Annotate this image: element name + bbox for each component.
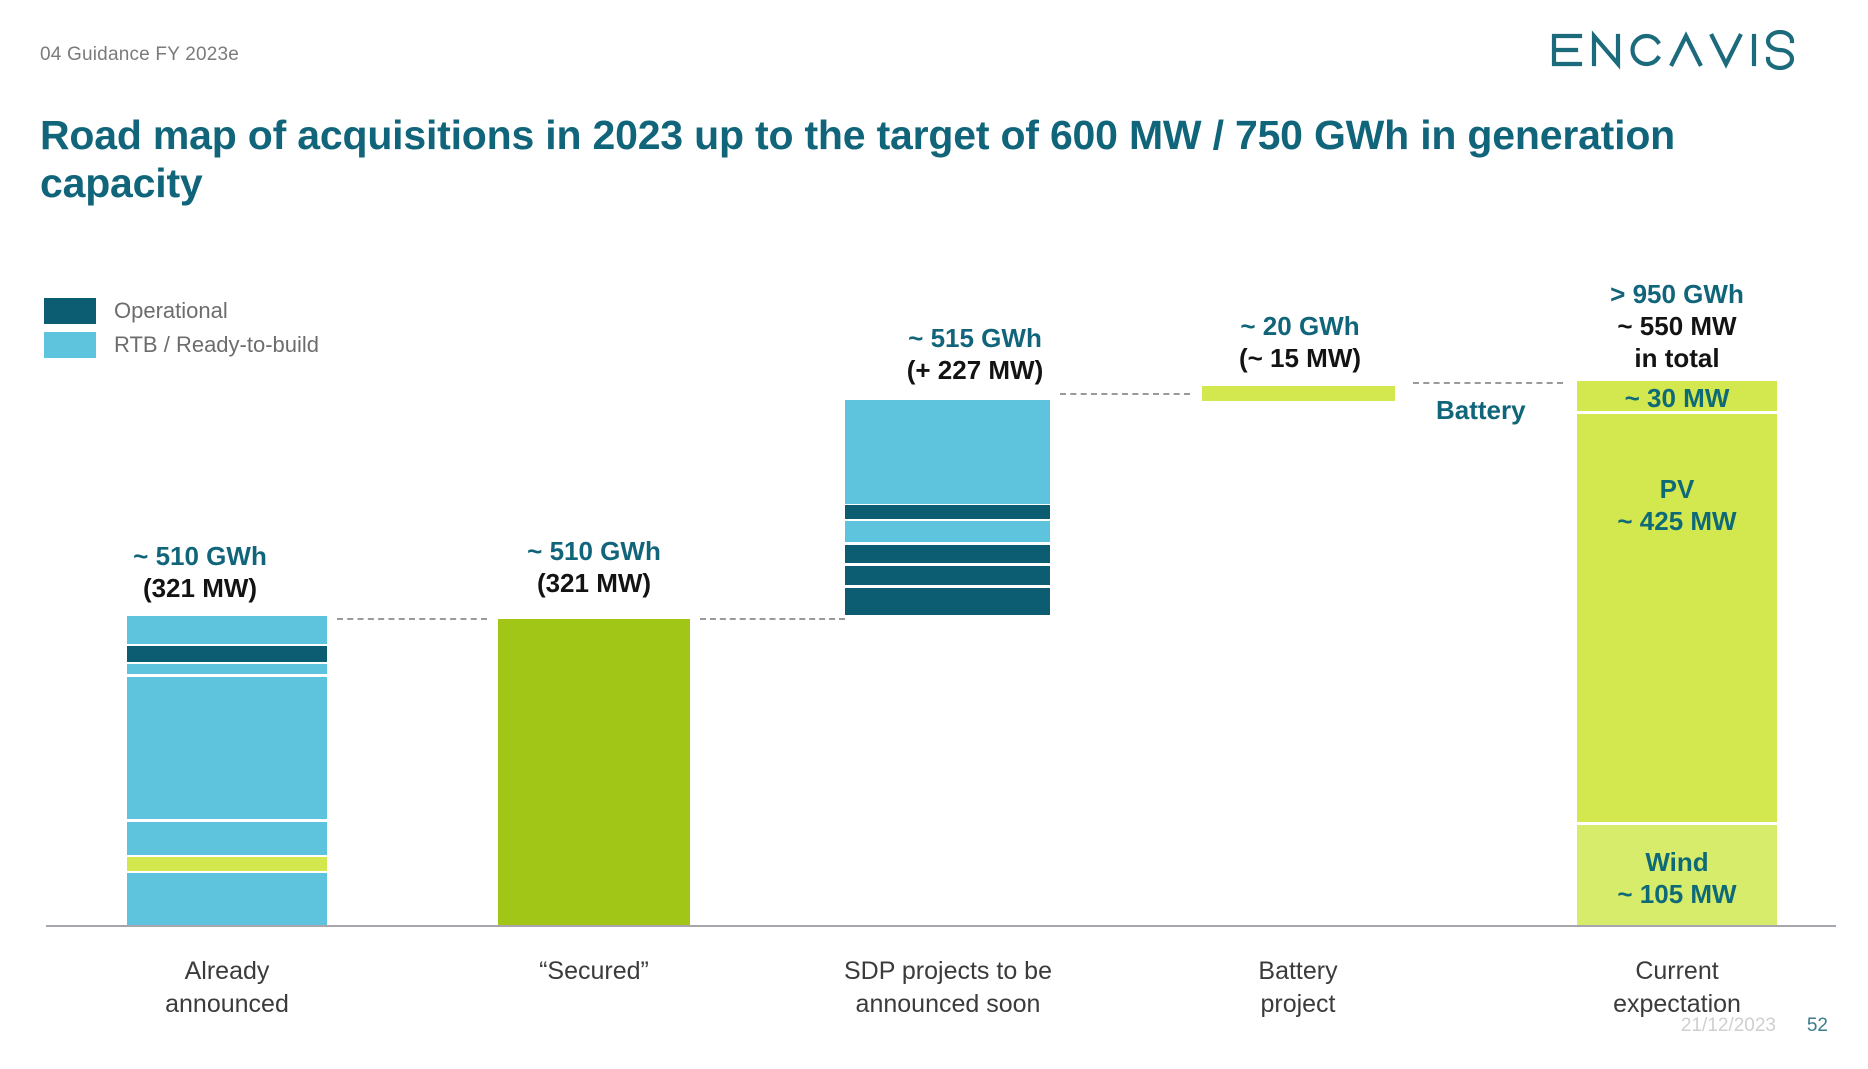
category-label-already-announced: Alreadyannounced	[57, 955, 397, 1020]
chart-plot-area: ~ 510 GWh (321 MW) Alreadyannounced ~ 51…	[0, 0, 1868, 1069]
connector-bar2-bar3	[700, 618, 845, 620]
bar5-total-label: > 950 GWh ~ 550 MW in total	[1577, 278, 1777, 375]
bar3-gwh: ~ 515 GWh	[830, 322, 1120, 354]
category-label-current-expectation: Currentexpectation	[1507, 955, 1847, 1020]
category-label-secured-text: “Secured”	[539, 957, 649, 985]
bar-secured[interactable]	[498, 619, 690, 925]
bar5-total-mw: ~ 550 MW	[1577, 310, 1777, 342]
category-label-battery-project: Batteryproject	[1128, 955, 1468, 1020]
footer-page-number: 52	[1807, 1015, 1828, 1037]
category-label-already-announced-text: Alreadyannounced	[57, 955, 397, 1020]
bar1-seg-rtb-7	[127, 873, 327, 925]
slide-root: 04 Guidance FY 2023e Road map of acquisi	[0, 0, 1868, 1069]
category-label-secured: “Secured”	[424, 955, 764, 988]
bar1-value-label: ~ 510 GWh (321 MW)	[70, 540, 330, 604]
bar3-mw: (+ 227 MW)	[830, 354, 1120, 386]
bar5-seg-wind: Wind ~ 105 MW	[1577, 825, 1777, 925]
bar1-seg-rtb-4	[127, 822, 327, 855]
category-label-battery-project-text: Batteryproject	[1128, 955, 1468, 1020]
bar2-value-label: ~ 510 GWh (321 MW)	[464, 535, 724, 599]
bar1-seg-rtb-2	[127, 664, 327, 674]
bar5-seg-pv: PV ~ 425 MW	[1577, 414, 1777, 822]
bar1-seg-battery	[127, 857, 327, 871]
bar5-pv-label-2: ~ 425 MW	[1577, 506, 1777, 538]
bar5-total-gwh: > 950 GWh	[1577, 278, 1777, 310]
bar4-mw: (~ 15 MW)	[1175, 342, 1425, 374]
bar3-value-label: ~ 515 GWh (+ 227 MW)	[830, 322, 1120, 386]
bar5-wind-label-2: ~ 105 MW	[1577, 879, 1777, 911]
bar5-wind-label-1: Wind	[1577, 847, 1777, 879]
bar4-value-label: ~ 20 GWh (~ 15 MW)	[1175, 310, 1425, 374]
bar5-total-suffix: in total	[1577, 342, 1777, 374]
bar5-battery-label: ~ 30 MW	[1577, 383, 1777, 415]
bar3-seg-rtb-2	[845, 521, 1050, 542]
chart-baseline-axis	[46, 925, 1836, 927]
category-label-sdp-projects: SDP projects to beannounced soon	[768, 955, 1128, 1020]
bar4-gwh: ~ 20 GWh	[1175, 310, 1425, 342]
bar-battery-project[interactable]	[1202, 386, 1395, 401]
category-label-current-expectation-text: Currentexpectation	[1507, 955, 1847, 1020]
connector-bar3-bar4	[1060, 393, 1190, 395]
bar1-seg-rtb-1	[127, 616, 327, 644]
bar2-mw: (321 MW)	[464, 567, 724, 599]
connector-bar4-bar5	[1413, 382, 1563, 384]
bar1-seg-rtb-3	[127, 677, 327, 819]
bar5-seg-battery: ~ 30 MW	[1577, 381, 1777, 411]
bar-sdp-projects[interactable]	[845, 400, 1050, 615]
footer-date: 21/12/2023	[1681, 1015, 1776, 1037]
bar3-seg-operational-2	[845, 545, 1050, 563]
bar2-gwh: ~ 510 GWh	[464, 535, 724, 567]
battery-annotation: Battery	[1436, 395, 1526, 426]
bar5-pv-label-1: PV	[1577, 474, 1777, 506]
bar3-seg-operational-3	[845, 566, 1050, 585]
bar1-seg-operational	[127, 646, 327, 662]
bar3-seg-operational-4	[845, 588, 1050, 615]
bar3-seg-rtb-1	[845, 400, 1050, 504]
connector-bar1-bar2	[337, 618, 487, 620]
bar1-gwh: ~ 510 GWh	[70, 540, 330, 572]
bar1-mw: (321 MW)	[70, 572, 330, 604]
bar-current-expectation[interactable]: ~ 30 MW PV ~ 425 MW Wind ~ 105 MW	[1577, 381, 1777, 925]
category-label-sdp-projects-text: SDP projects to beannounced soon	[768, 955, 1128, 1020]
bar3-seg-operational-1	[845, 505, 1050, 519]
